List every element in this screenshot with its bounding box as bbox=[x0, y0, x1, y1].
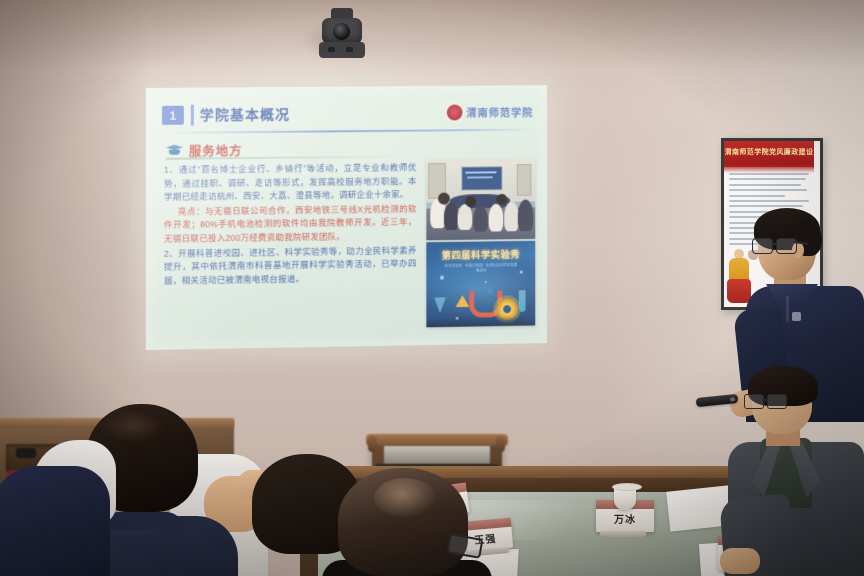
camera-lens-icon bbox=[333, 23, 350, 40]
flask-icon bbox=[434, 297, 446, 313]
camera-led bbox=[328, 47, 335, 52]
university-seal-icon bbox=[447, 105, 463, 121]
photo-scene: 1 学院基本概况 渭南师范学院 服务地方 1、通过“百名博士企业行、乡镇行”等活… bbox=[0, 0, 864, 576]
triangle-icon bbox=[456, 295, 470, 307]
science-show-subtitle: 科学实验秀 · 科普进校园 · 走进社区科学实验展演活动 bbox=[444, 263, 518, 275]
paper-cup bbox=[614, 486, 636, 510]
university-name: 渭南师范学院 bbox=[466, 104, 533, 119]
lectern-top-rail bbox=[366, 434, 508, 446]
lectern-post-right bbox=[496, 436, 505, 452]
camera-base bbox=[319, 42, 365, 58]
poster-red-banner: 渭南师范学院党风廉政建设 bbox=[724, 141, 814, 167]
slide-title-divider bbox=[191, 105, 194, 126]
slide-paragraph-2: 2、开展科普进校园、进社区、科学实验秀等，助力全民科学素养提升，其中依托渭南市科… bbox=[164, 244, 417, 288]
slide-title: 学院基本概况 bbox=[200, 105, 290, 126]
slide-paragraph-highlight: 亮点：与无锡日联公司合作，西安地铁三号线X光机检测的软件开发；80%手机电池检测… bbox=[164, 203, 417, 247]
seated-attendee-right bbox=[726, 372, 864, 576]
audience-center-front bbox=[252, 450, 482, 576]
camera-led-secondary bbox=[346, 47, 353, 52]
science-show-title: 第四届科学实验秀 bbox=[426, 247, 535, 262]
nameplate-text: 万冰 bbox=[596, 511, 654, 526]
ptz-camera bbox=[318, 8, 366, 60]
attendee-hand bbox=[720, 548, 760, 574]
desk-device bbox=[16, 448, 36, 458]
presentation-slide: 1 学院基本概况 渭南师范学院 服务地方 1、通过“百名博士企业行、乡镇行”等活… bbox=[146, 85, 547, 350]
slide-header-rule bbox=[162, 129, 533, 134]
graduation-cap-icon bbox=[166, 144, 183, 156]
presenter-glasses bbox=[752, 238, 798, 253]
audience-left-edge bbox=[0, 466, 110, 576]
slide-header: 1 学院基本概况 渭南师范学院 bbox=[162, 101, 533, 130]
slide-body: 1、通过“百名博士企业行、乡镇行”等活动，立足专业和教师优势，通过挂职、调研、走… bbox=[164, 161, 417, 289]
ceiling-shadow bbox=[0, 0, 864, 70]
slide-paragraph-1: 1、通过“百名博士企业行、乡镇行”等活动，立足专业和教师优势，通过挂职、调研、走… bbox=[164, 161, 417, 204]
slide-number-badge: 1 bbox=[162, 106, 184, 125]
test-tube-icon bbox=[519, 290, 526, 312]
attendee-glasses bbox=[744, 394, 788, 408]
poster-title: 渭南师范学院党风廉政建设 bbox=[724, 147, 814, 157]
slide-photo-science-show: 第四届科学实验秀 科学实验秀 · 科普进校园 · 走进社区科学实验展演活动 bbox=[426, 241, 535, 327]
polo-logo-icon bbox=[792, 312, 801, 321]
university-logo: 渭南师范学院 bbox=[447, 101, 533, 123]
slide-photo-meeting-room bbox=[426, 158, 535, 240]
projection-screen: 1 学院基本概况 渭南师范学院 服务地方 1、通过“百名博士企业行、乡镇行”等活… bbox=[146, 85, 547, 350]
